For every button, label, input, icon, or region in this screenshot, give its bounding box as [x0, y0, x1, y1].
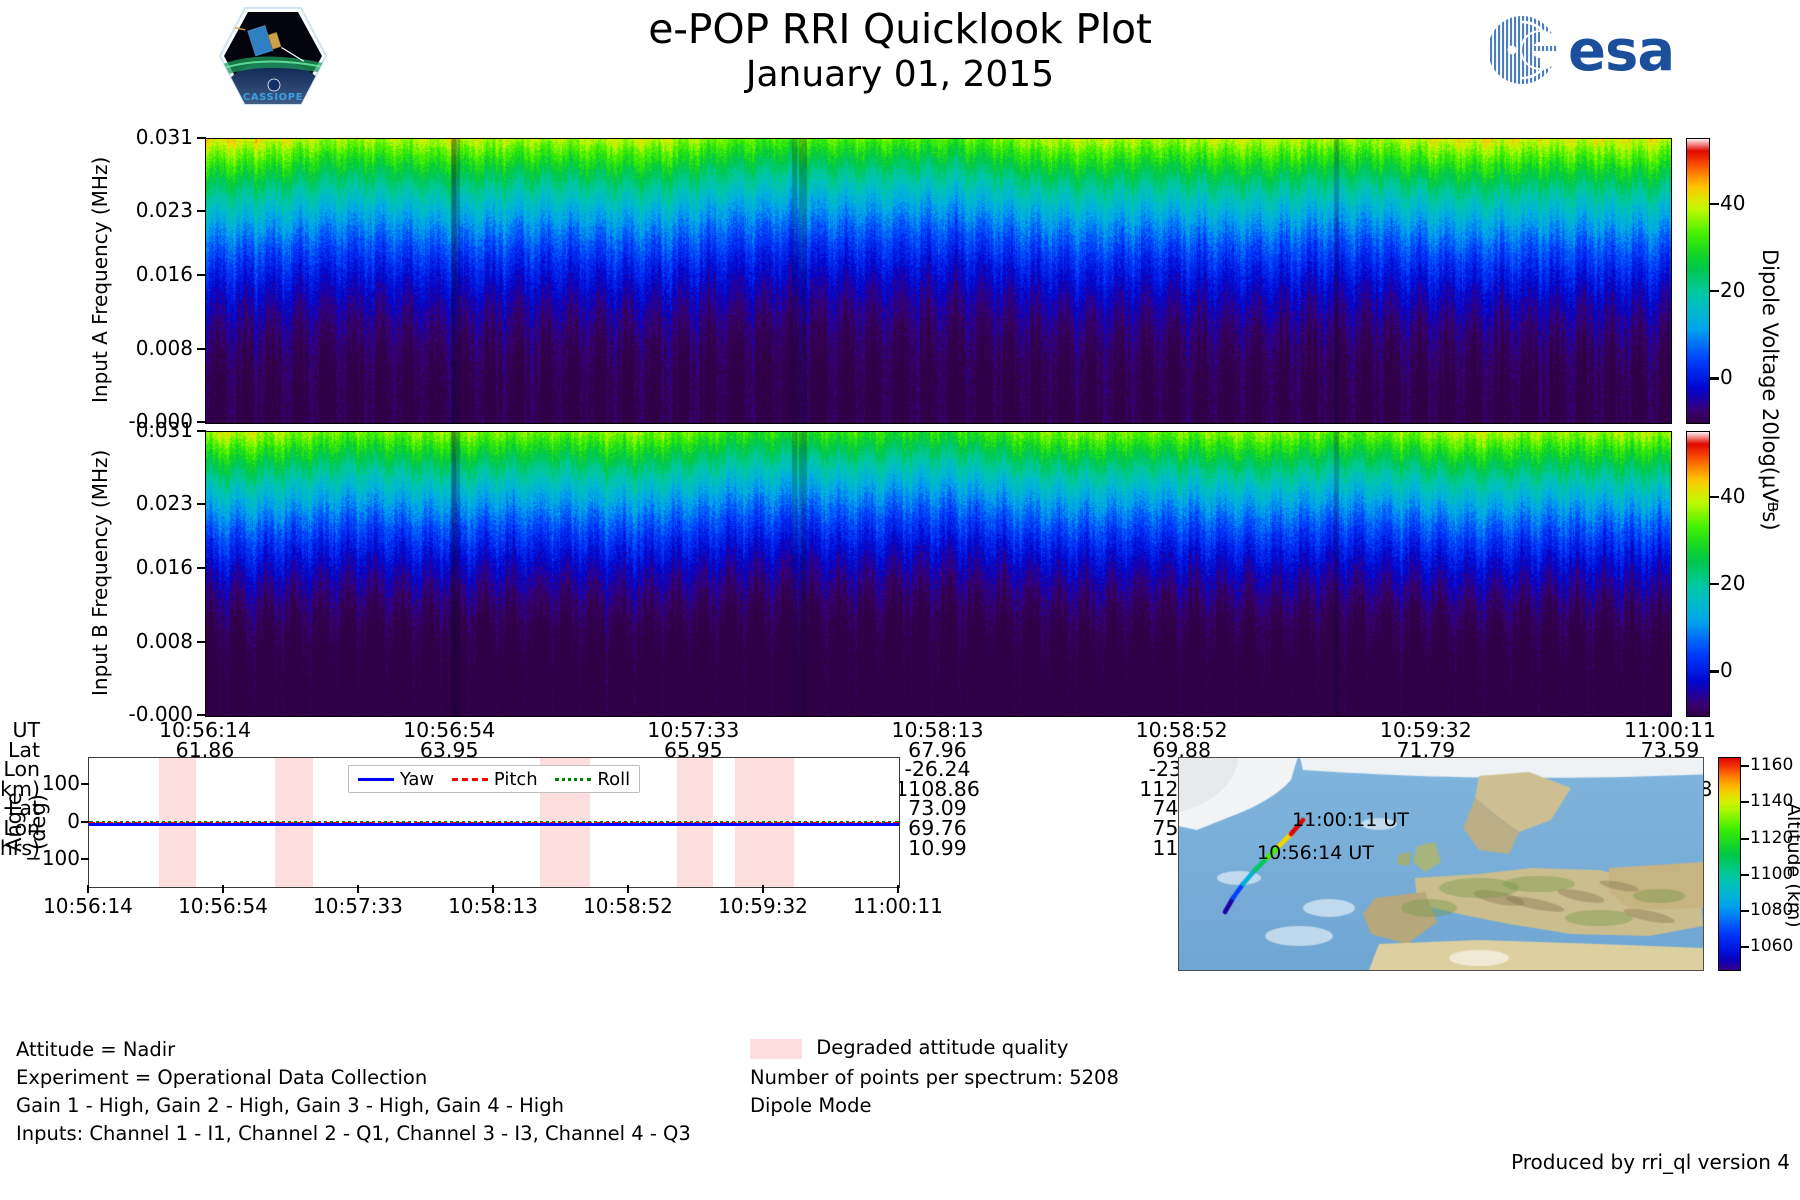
legend-swatch-pitch-icon	[452, 778, 488, 781]
colorbar-tick-mark	[1710, 583, 1719, 586]
y-tick-label: 0.008	[75, 629, 193, 653]
colorbar-axis-label: Dipole Voltage 20log(μVᴯs)	[1758, 190, 1782, 590]
colorbar-tick-label: 0	[1720, 365, 1733, 389]
attitude-x-tick-label: 11:00:11	[818, 894, 978, 918]
attitude-y-tick-label: −100	[18, 846, 80, 870]
attitude-x-tick-mark	[627, 885, 629, 893]
altitude-tick-mark	[1741, 874, 1749, 876]
legend-label: Pitch	[494, 769, 538, 790]
altitude-colorbar-label-text: Altitude (km)	[1783, 803, 1800, 928]
degraded-quality-legend: Degraded attitude quality	[750, 1036, 1068, 1059]
y-tick-mark	[197, 274, 206, 276]
degraded-quality-label: Degraded attitude quality	[816, 1036, 1068, 1059]
spectrogram-input-a-image	[206, 139, 1671, 423]
y-tick-label: 0.008	[75, 336, 193, 360]
map-label-end: 11:00:11 UT	[1292, 809, 1409, 831]
colorbar-tick-label: 40	[1720, 484, 1745, 508]
degraded-quality-swatch	[750, 1039, 802, 1059]
attitude-x-tick-mark	[87, 885, 89, 893]
attitude-x-tick-mark	[492, 885, 494, 893]
attitude-x-tick-mark	[762, 885, 764, 893]
y-tick-label: 0.031	[75, 125, 193, 149]
y-tick-mark	[197, 430, 206, 432]
y-tick-label: 0.031	[75, 418, 193, 442]
attitude-y-tick-mark	[81, 783, 89, 785]
attitude-plot-legend[interactable]: YawPitchRoll	[348, 765, 640, 793]
annotation-dipole-mode: Dipole Mode	[750, 1094, 872, 1117]
spectrogram-input-a[interactable]	[205, 138, 1672, 424]
altitude-colorbar-label: Altitude (km)	[1783, 790, 1800, 940]
altitude-tick-mark	[1741, 946, 1749, 948]
ephemeris-row: Geo. Lat61.8663.9565.9567.9669.8871.7973…	[0, 738, 1640, 758]
spectrogram-input-b[interactable]	[205, 431, 1672, 717]
attitude-y-tick-mark	[81, 858, 89, 860]
legend-swatch-roll-icon	[555, 778, 591, 781]
legend-swatch-yaw-icon	[358, 778, 394, 781]
y-tick-mark	[197, 567, 206, 569]
y-tick-mark	[197, 348, 206, 350]
colorbar-tick-label: 40	[1720, 191, 1745, 215]
y-tick-label: 0.023	[75, 491, 193, 515]
esa-logo: esa	[1482, 10, 1712, 88]
colorbar-tick-label: 0	[1720, 658, 1733, 682]
ground-track-map-image	[1179, 758, 1703, 970]
y-tick-mark	[197, 641, 206, 643]
y-tick-mark	[197, 714, 206, 716]
y-tick-mark	[197, 421, 206, 423]
page-header: CASSIOPE e-POP RRI Quicklook Plot Januar…	[0, 0, 1800, 110]
colorbar-tick-label: 20	[1720, 571, 1745, 595]
attitude-y-tick-label: 0	[18, 809, 80, 833]
legend-item-yaw[interactable]: Yaw	[358, 769, 434, 790]
colorbar-input-b	[1686, 431, 1710, 717]
y-tick-mark	[197, 137, 206, 139]
altitude-tick-mark	[1741, 910, 1749, 912]
attitude-y-tick-label: 100	[18, 771, 80, 795]
map-label-start: 10:56:14 UT	[1257, 842, 1374, 864]
legend-item-roll[interactable]: Roll	[555, 769, 630, 790]
annotation-experiment: Experiment = Operational Data Collection	[16, 1066, 427, 1089]
legend-label: Yaw	[400, 769, 434, 790]
colorbar-tick-mark	[1710, 377, 1719, 380]
ephemeris-row: UT10:56:1410:56:5410:57:3310:58:1310:58:…	[0, 718, 1640, 738]
attitude-yaw-line	[89, 823, 899, 826]
altitude-tick-mark	[1741, 838, 1749, 840]
annotation-inputs: Inputs: Channel 1 - I1, Channel 2 - Q1, …	[16, 1122, 691, 1145]
colorbar-input-a	[1686, 138, 1710, 424]
y-tick-label: 0.023	[75, 198, 193, 222]
altitude-tick-label: 1160	[1750, 755, 1793, 775]
colorbar-tick-mark	[1710, 496, 1719, 499]
spectrogram-input-b-image	[206, 432, 1671, 716]
attitude-x-tick-mark	[897, 885, 899, 893]
attitude-y-tick-mark	[81, 821, 89, 823]
colorbar-label-text: Dipole Voltage 20log(μVᴯs)	[1758, 249, 1782, 531]
esa-logo-text: esa	[1568, 19, 1674, 84]
annotation-produced-by: Produced by rri_ql version 4	[1511, 1150, 1790, 1174]
colorbar-tick-mark	[1710, 203, 1719, 206]
altitude-tick-mark	[1741, 801, 1749, 803]
altitude-tick-mark	[1741, 765, 1749, 767]
annotation-gains: Gain 1 - High, Gain 2 - High, Gain 3 - H…	[16, 1094, 564, 1117]
ground-track-map[interactable]: 11:00:11 UT 10:56:14 UT	[1178, 757, 1704, 971]
altitude-colorbar	[1718, 757, 1741, 971]
colorbar-tick-label: 20	[1720, 278, 1745, 302]
legend-item-pitch[interactable]: Pitch	[452, 769, 538, 790]
y-tick-mark	[197, 503, 206, 505]
y-tick-mark	[197, 210, 206, 212]
annotation-points-per-spectrum: Number of points per spectrum: 5208	[750, 1066, 1119, 1089]
colorbar-tick-mark	[1710, 670, 1719, 673]
attitude-x-tick-mark	[222, 885, 224, 893]
y-tick-label: 0.016	[75, 262, 193, 286]
attitude-x-tick-mark	[357, 885, 359, 893]
legend-label: Roll	[597, 769, 630, 790]
y-tick-label: 0.016	[75, 555, 193, 579]
colorbar-tick-mark	[1710, 290, 1719, 293]
annotation-attitude: Attitude = Nadir	[16, 1038, 175, 1061]
